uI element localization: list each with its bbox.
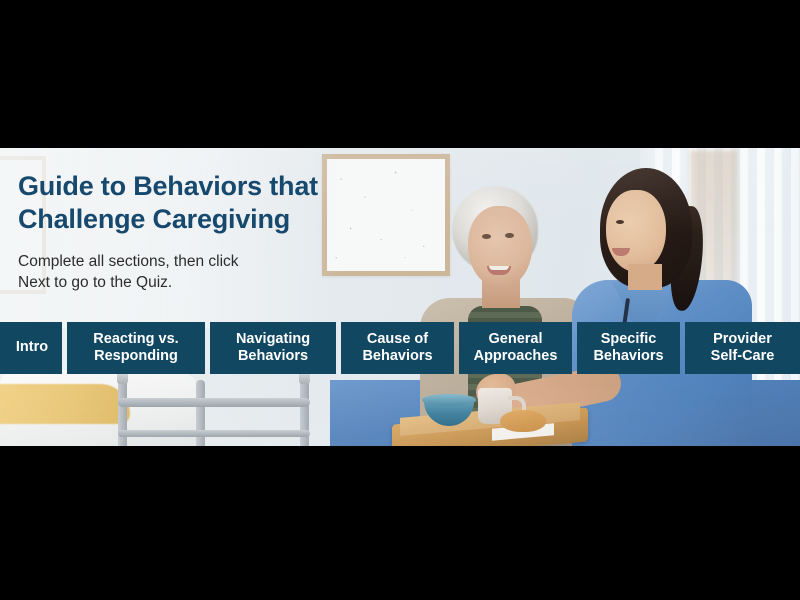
walker-crossbar-upper: [118, 398, 310, 407]
tab-specific-behaviors[interactable]: Specific Behaviors: [577, 322, 680, 374]
nurse-neck: [628, 264, 662, 290]
tab-cause-of-behaviors[interactable]: Cause of Behaviors: [341, 322, 454, 374]
letterbox-bar-bottom: [0, 446, 800, 600]
blue-bowl-rim: [422, 394, 476, 406]
elderly-woman-eye-left: [482, 234, 491, 239]
page-subtitle: Complete all sections, then click Next t…: [18, 252, 378, 293]
nurse-eye: [616, 220, 624, 224]
tab-intro[interactable]: Intro: [0, 322, 62, 374]
yellow-blanket: [0, 384, 130, 424]
page-title: Guide to Behaviors that Challenge Caregi…: [18, 170, 378, 236]
section-tab-bar: IntroReacting vs. RespondingNavigating B…: [0, 322, 800, 374]
letterbox-bar-top: [0, 0, 800, 148]
elderly-woman-face: [468, 206, 532, 288]
elderly-woman-teeth: [489, 266, 509, 270]
croissant: [500, 410, 546, 432]
tab-navigating-behaviors[interactable]: Navigating Behaviors: [210, 322, 336, 374]
tab-provider-self-care[interactable]: Provider Self-Care: [685, 322, 800, 374]
headline-block: Guide to Behaviors that Challenge Caregi…: [18, 170, 378, 294]
tab-general-approaches[interactable]: General Approaches: [459, 322, 572, 374]
walker-crossbar-lower: [118, 430, 310, 437]
course-banner: Guide to Behaviors that Challenge Caregi…: [0, 148, 800, 446]
screenshot-viewport: Guide to Behaviors that Challenge Caregi…: [0, 0, 800, 600]
tab-reacting-vs-responding[interactable]: Reacting vs. Responding: [67, 322, 205, 374]
elderly-woman-eye-right: [505, 233, 514, 238]
nurse-face: [606, 190, 666, 272]
